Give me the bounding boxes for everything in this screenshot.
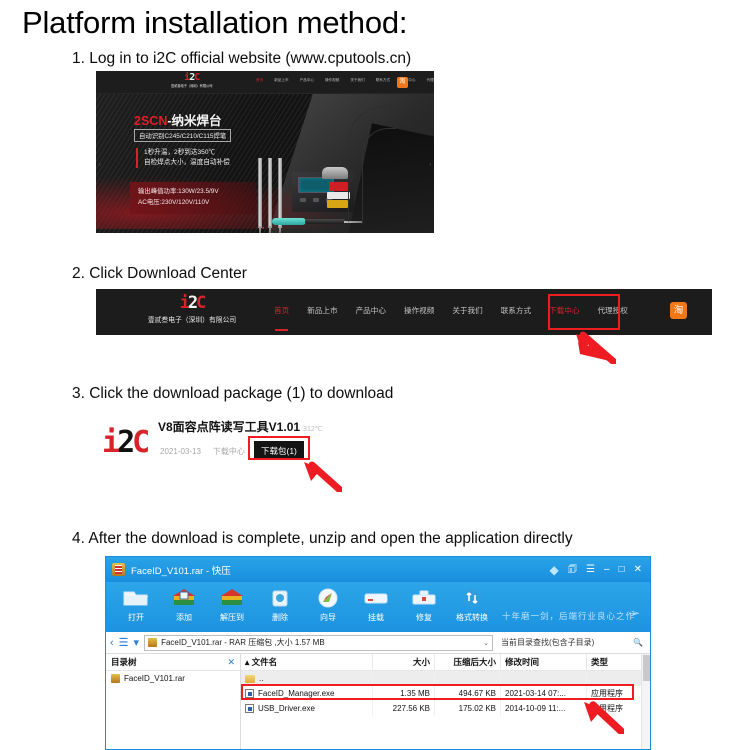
tree-header: 目录树 ✕ [106, 654, 240, 671]
close-icon[interactable]: ✕ [634, 565, 642, 575]
download-item-category: 下载中心 [213, 446, 245, 457]
minimize-icon[interactable]: – [604, 565, 610, 575]
banner-logo-mark: i2C [171, 72, 212, 83]
toolbar-button-delete[interactable]: 删除 [256, 585, 304, 623]
window-toolbar: 打开 添加 解压到 删除 [106, 582, 650, 632]
nav-logo-letter-i: i [180, 293, 188, 313]
toolbar-button-wizard[interactable]: 向导 [304, 585, 352, 623]
exe-icon [245, 689, 254, 698]
download-row-logo: i2C [102, 428, 147, 458]
download-item-title-suffix: 312℃ [303, 426, 323, 433]
website-homepage-screenshot: i2C 壹贰叁电子（深圳）有限公司 首页 新品上市 产品中心 操作视频 关于我们… [96, 71, 434, 233]
extract-icon [208, 585, 256, 611]
exe-icon [245, 704, 254, 713]
tree-header-label: 目录树 [111, 656, 137, 668]
step-2-label: 2. Click Download Center [72, 264, 247, 284]
window-body: 目录树 ✕ FaceID_V101.rar ▴ 文件名 大小 压缩后大小 修改时… [106, 654, 650, 750]
station-button-1 [300, 198, 306, 202]
nav-company-name: 壹贰叁电子（深圳）有限公司 [122, 314, 262, 324]
nav-logo-letter-2: 2 [188, 293, 196, 313]
toolbar-button-mount[interactable]: 挂载 [352, 585, 400, 623]
wizard-icon [304, 585, 352, 611]
download-button-highlight-box [248, 436, 310, 460]
back-icon[interactable]: ‹ [110, 637, 114, 649]
download-item-date: 2021-03-13 [160, 447, 201, 456]
toolbar-label-convert: 格式转换 [448, 612, 496, 623]
scrollbar-thumb[interactable] [643, 655, 650, 681]
hero-headline-model: 2SCN [134, 114, 167, 128]
hero-headline: 2SCN-纳米焊台 [134, 110, 222, 129]
dl-logo-letter-i: i [102, 425, 117, 460]
soldering-tip-1 [258, 158, 262, 228]
trash-icon [256, 585, 304, 611]
table-row[interactable]: FaceID_Manager.exe 1.35 MB 494.67 KB 202… [241, 686, 650, 701]
cell-filename-text: FaceID_Manager.exe [258, 689, 335, 698]
cell-filename-text: .. [259, 674, 263, 683]
table-row[interactable]: .. [241, 671, 650, 686]
tree-item-label: FaceID_V101.rar [124, 674, 185, 683]
tree-archive-icon [111, 674, 120, 683]
nav-menu: 首页 新品上市 产品中心 操作视频 关于我们 联系方式 下载中心 代理授权 [274, 305, 628, 316]
search-input[interactable]: 当前目录查找(包含子目录) 🔍 [498, 635, 646, 651]
cell-size: 1.35 MB [373, 686, 435, 701]
toolbar-button-extract[interactable]: 解压到 [208, 585, 256, 623]
toolbar-label-extract: 解压到 [208, 612, 256, 623]
taobao-icon[interactable]: 淘 [397, 77, 408, 88]
toolbar-button-repair[interactable]: 修复 [400, 585, 448, 623]
banner-navbar: i2C 壹贰叁电子（深圳）有限公司 首页 新品上市 产品中心 操作视频 关于我们… [96, 71, 434, 94]
toolbar-label-open: 打开 [112, 612, 160, 623]
toolbar-label-mount: 挂载 [352, 612, 400, 623]
hero-feature-2: 自检焊点大小，温度自动补偿 [144, 158, 230, 168]
page-title: Platform installation method: [22, 4, 407, 42]
toolbar-slogan: 十年磨一剑，后端行业良心之作 [502, 610, 635, 622]
hero-spec-1: 输出峰值功率:130W/23.5/9V [138, 187, 256, 198]
banner-logo: i2C 壹贰叁电子（深圳）有限公司 [171, 72, 212, 88]
window-titlebar-controls: ◆ 🗊 ☰ – □ ✕ [550, 565, 650, 575]
search-icon[interactable]: 🔍 [633, 638, 643, 647]
bird-icon: ➢ [630, 606, 640, 620]
repair-icon [400, 585, 448, 611]
toolbar-button-convert[interactable]: 格式转换 [448, 585, 496, 623]
banner-menu-item-home[interactable]: 首页 [256, 78, 263, 83]
address-archive-icon [148, 638, 157, 647]
step-4-label: 4. After the download is complete, unzip… [72, 529, 573, 549]
download-package-row-screenshot: i2C V8面容点阵读写工具V1.01312℃ 2021-03-13 下载中心 … [96, 408, 456, 480]
yellow-pad-illustration [327, 200, 348, 208]
add-archive-icon [160, 585, 208, 611]
note-icon[interactable]: 🗊 [568, 565, 577, 575]
search-placeholder: 当前目录查找(包含子目录) [501, 637, 594, 648]
toolbar-label-repair: 修复 [400, 612, 448, 623]
cell-compressed-size: 175.02 KB [435, 701, 501, 716]
nav-item-contact[interactable]: 联系方式 [501, 305, 531, 316]
cell-filename: USB_Driver.exe [241, 701, 373, 716]
station-button-2 [313, 198, 319, 202]
folder-up-icon [245, 675, 255, 683]
nav-item-agent-authorization[interactable]: 代理授权 [597, 305, 627, 316]
cell-size: 227.56 KB [373, 701, 435, 716]
window-titlebar: FaceID_V101.rar - 快压 ◆ 🗊 ☰ – □ ✕ [106, 557, 650, 582]
column-header-size[interactable]: 大小 [373, 654, 435, 670]
archive-manager-window: FaceID_V101.rar - 快压 ◆ 🗊 ☰ – □ ✕ 打开 [105, 556, 651, 750]
archive-icon [112, 563, 125, 576]
download-item-title-text: V8面容点阵读写工具V1.01 [158, 420, 300, 434]
annotation-arrow-4 [580, 700, 624, 734]
banner-menu-item-contact[interactable]: 联系方式 [376, 78, 390, 83]
file-list-header: ▴ 文件名 大小 压缩后大小 修改时间 类型 [241, 654, 650, 671]
banner-company-name: 壹贰叁电子（深圳）有限公司 [171, 83, 212, 88]
address-dropdown-icon[interactable]: ⌄ [483, 639, 489, 647]
hero-badge: 自动识别C245/C210/C115焊笔 [134, 129, 231, 142]
step-3-label: 3. Click the download package (1) to dow… [72, 384, 393, 404]
toolbar-label-wizard: 向导 [304, 612, 352, 623]
address-input[interactable]: FaceID_V101.rar - RAR 压缩包 ,大小 1.57 MB ⌄ [144, 635, 493, 651]
white-pad-illustration [327, 192, 350, 199]
cell-size [373, 671, 435, 686]
mount-icon [352, 585, 400, 611]
banner-menu-item-videos[interactable]: 操作视频 [325, 78, 339, 83]
annotation-arrow-2 [570, 330, 616, 364]
cell-filename: FaceID_Manager.exe [241, 686, 373, 701]
red-pad-illustration [329, 182, 348, 191]
cell-modified: 2014-10-09 11:... [501, 701, 587, 716]
address-value: FaceID_V101.rar - RAR 压缩包 ,大小 1.57 MB [161, 637, 325, 648]
nav-item-home[interactable]: 首页 [274, 305, 289, 316]
iron-body [305, 219, 345, 224]
address-bar: ‹ ☰ ▾ FaceID_V101.rar - RAR 压缩包 ,大小 1.57… [106, 632, 650, 654]
hero-feature-1: 1秒升温，2秒到达350℃ [144, 148, 230, 158]
nav-item-new-products[interactable]: 新品上市 [307, 305, 337, 316]
convert-icon [448, 585, 496, 611]
open-folder-icon [112, 585, 160, 611]
nav-item-product-center[interactable]: 产品中心 [356, 305, 386, 316]
nav-logo: i2C 壹贰叁电子（深圳）有限公司 [122, 295, 262, 324]
nav-logo-letter-c: C [196, 293, 204, 313]
tree-item[interactable]: FaceID_V101.rar [106, 671, 240, 686]
step-1-label: 1. Log in to i2C official website (www.c… [72, 49, 411, 69]
toolbar-label-delete: 删除 [256, 612, 304, 623]
cell-modified [501, 671, 587, 686]
banner-menu-item-products[interactable]: 产品中心 [300, 78, 314, 83]
column-header-modified[interactable]: 修改时间 [501, 654, 587, 670]
directory-tree-pane: 目录树 ✕ FaceID_V101.rar [106, 654, 241, 750]
hero-features: 1秒升温，2秒到达350℃ 自检焊点大小，温度自动补偿 [136, 148, 230, 168]
cell-compressed-size [435, 671, 501, 686]
column-header-filename[interactable]: ▴ 文件名 [241, 654, 373, 670]
list-view-icon[interactable]: ☰ [119, 636, 129, 649]
cell-filename: .. [241, 671, 373, 686]
cell-filename-text: USB_Driver.exe [258, 704, 315, 713]
banner-hero: 2SCN-纳米焊台 自动识别C245/C210/C115焊笔 1秒升温，2秒到达… [96, 94, 434, 233]
banner-menu-item-agent[interactable]: 代理授权 [426, 78, 434, 83]
iron-grip [272, 218, 306, 225]
carousel-next-icon[interactable]: › [429, 162, 431, 168]
toolbar-label-add: 添加 [160, 612, 208, 623]
carousel-dots[interactable]: ● [262, 225, 264, 230]
dl-logo-letter-c: C [132, 425, 147, 460]
column-header-compressed-size[interactable]: 压缩后大小 [435, 654, 501, 670]
column-label-filename: 文件名 [252, 656, 278, 668]
hero-headline-text: -纳米焊台 [167, 114, 221, 128]
tree-close-icon[interactable]: ✕ [227, 657, 235, 668]
download-center-nav-screenshot: i2C 壹贰叁电子（深圳）有限公司 首页 新品上市 产品中心 操作视频 关于我们… [96, 289, 712, 335]
nav-item-operation-videos[interactable]: 操作视频 [404, 305, 434, 316]
toolbar-button-add[interactable]: 添加 [160, 585, 208, 623]
diamond-icon[interactable]: ◆ [550, 565, 559, 575]
hero-spec-box: 输出峰值功率:130W/23.5/9V AC电压:230V/120V/110V [130, 182, 256, 214]
nav-logo-mark: i2C [122, 295, 262, 312]
nav-item-about-us[interactable]: 关于我们 [452, 305, 482, 316]
iron-holder-illustration [322, 167, 348, 179]
cable-illustration-2 [362, 128, 396, 224]
menu-icon[interactable]: ☰ [586, 565, 595, 575]
nav-bar: i2C 壹贰叁电子（深圳）有限公司 首页 新品上市 产品中心 操作视频 关于我们… [96, 289, 712, 335]
carousel-prev-icon[interactable]: ‹ [99, 162, 101, 168]
window-title: FaceID_V101.rar - 快压 [131, 563, 231, 577]
banner-menu-item-about[interactable]: 关于我们 [350, 78, 364, 83]
cell-compressed-size: 494.67 KB [435, 686, 501, 701]
cell-modified: 2021-03-14 07:... [501, 686, 587, 701]
download-item-title[interactable]: V8面容点阵读写工具V1.01312℃ [158, 418, 323, 435]
maximize-icon[interactable]: □ [619, 565, 625, 575]
toolbar-button-open[interactable]: 打开 [112, 585, 160, 623]
logo-letter-c: C [194, 72, 199, 83]
dl-logo-letter-2: 2 [117, 425, 132, 460]
nav-taobao-icon[interactable]: 淘 [670, 302, 687, 319]
annotation-arrow-3 [300, 460, 342, 492]
nav-item-download-center[interactable]: 下载中心 [549, 305, 579, 316]
banner-menu-item-new[interactable]: 新品上市 [274, 78, 288, 83]
file-list-scrollbar[interactable] [641, 654, 650, 750]
chevron-down-icon[interactable]: ▾ [134, 636, 140, 649]
hero-spec-2: AC电压:230V/120V/110V [138, 198, 256, 209]
download-item-meta: 2021-03-13 下载中心 [160, 446, 245, 457]
installation-guide-page: Platform installation method: 1. Log in … [0, 0, 750, 750]
